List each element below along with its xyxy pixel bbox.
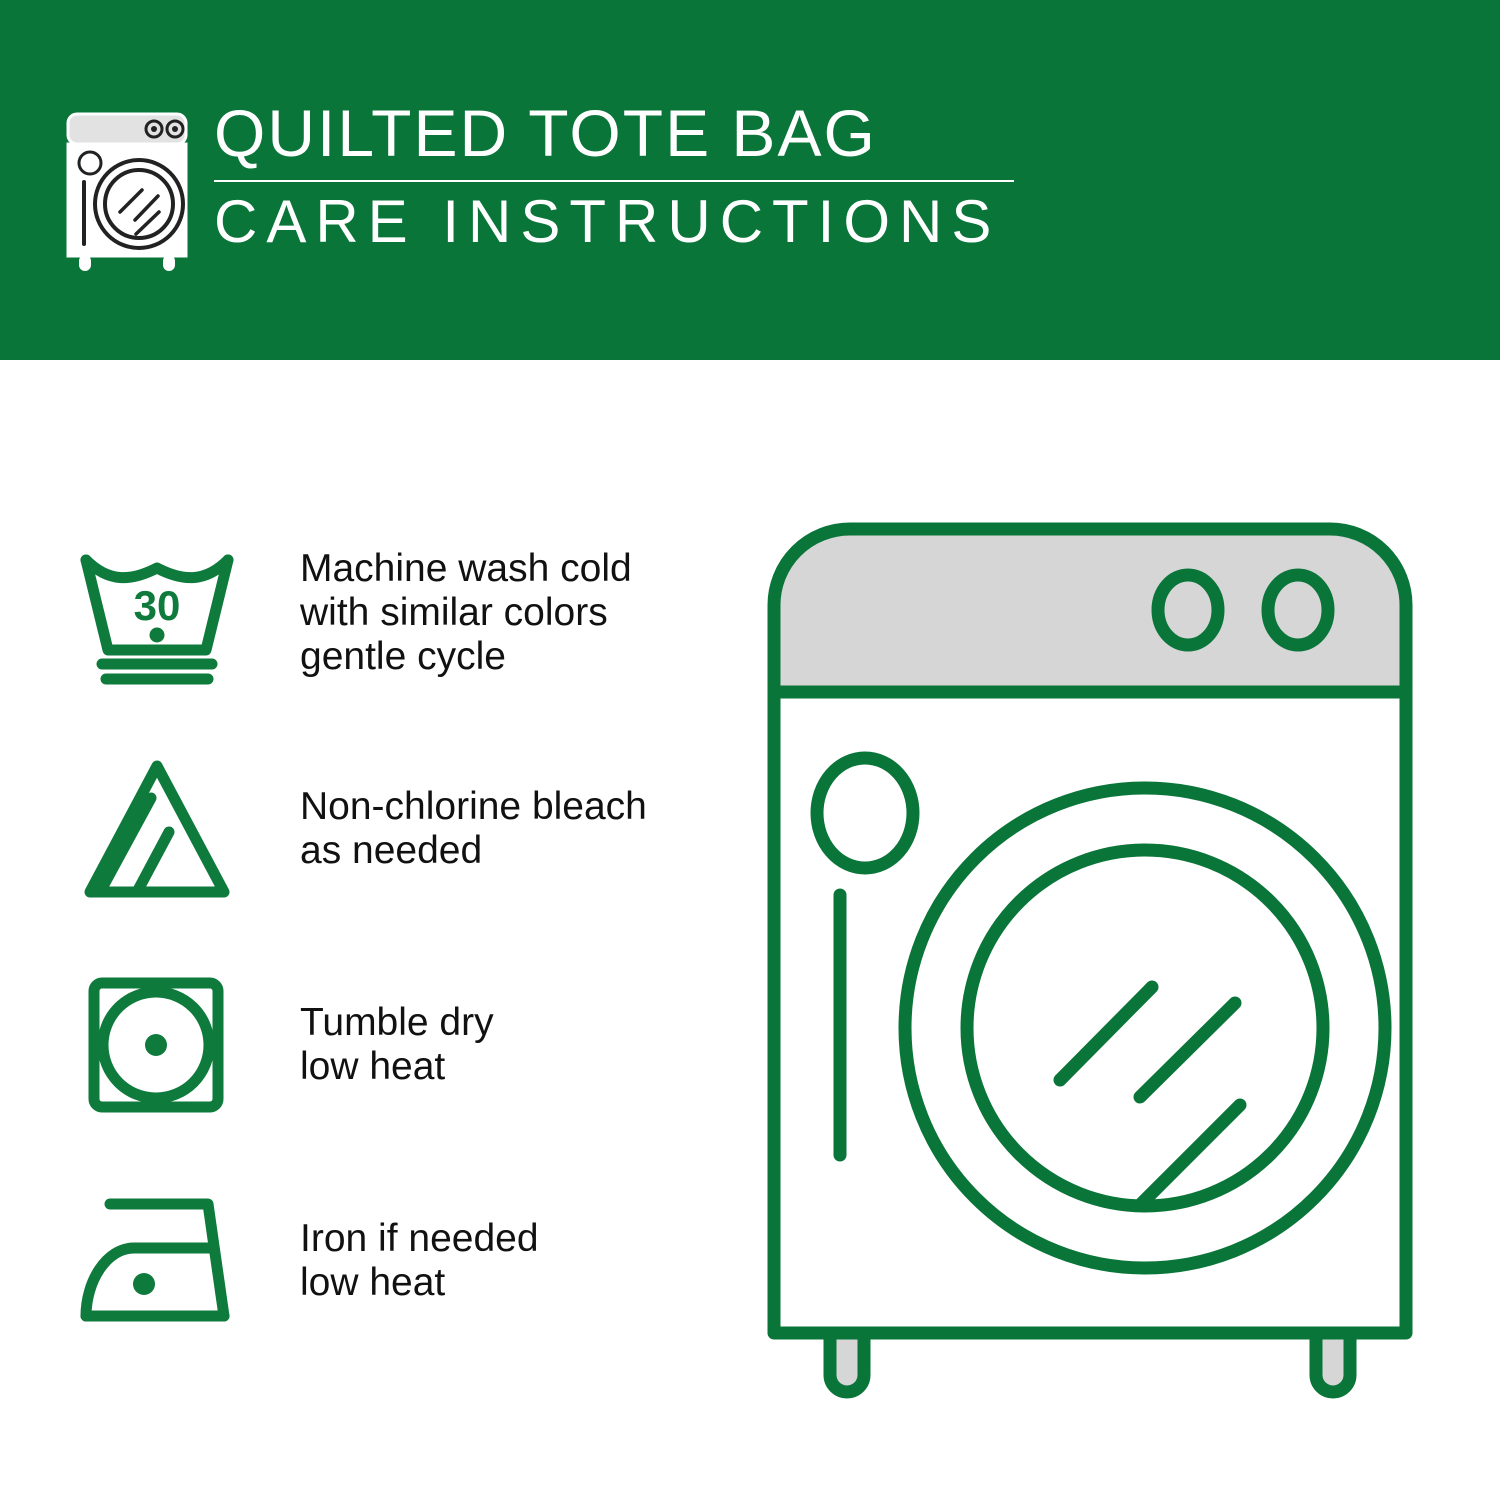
care-row-bleach: Non-chlorine bleach as needed <box>72 721 712 937</box>
care-instruction-list: 30 Machine wash cold with similar colors… <box>72 505 712 1369</box>
washing-machine-illustration <box>740 495 1440 1425</box>
title-divider <box>214 180 1014 182</box>
care-label-tumble-dry: Tumble dry low heat <box>300 1001 494 1088</box>
washing-machine-icon <box>62 108 192 273</box>
care-row-machine-wash: 30 Machine wash cold with similar colors… <box>72 505 712 721</box>
page-subtitle: CARE INSTRUCTIONS <box>214 192 1014 252</box>
header-titles: QUILTED TOTE BAG CARE INSTRUCTIONS <box>214 100 1014 252</box>
header-banner: QUILTED TOTE BAG CARE INSTRUCTIONS <box>0 0 1500 360</box>
care-label-iron: Iron if needed low heat <box>300 1217 539 1304</box>
header-content: QUILTED TOTE BAG CARE INSTRUCTIONS <box>62 100 1014 273</box>
page-title: QUILTED TOTE BAG <box>214 100 1014 174</box>
care-label-machine-wash: Machine wash cold with similar colors ge… <box>300 547 632 678</box>
care-row-tumble-dry: Tumble dry low heat <box>72 937 712 1153</box>
svg-text:30: 30 <box>134 582 181 629</box>
tumble-dry-low-icon <box>72 965 242 1125</box>
iron-low-heat-icon <box>72 1181 242 1341</box>
non-chlorine-bleach-icon <box>72 749 242 909</box>
care-row-iron: Iron if needed low heat <box>72 1153 712 1369</box>
care-label-bleach: Non-chlorine bleach as needed <box>300 785 647 872</box>
machine-wash-30-gentle-icon: 30 <box>72 533 242 693</box>
